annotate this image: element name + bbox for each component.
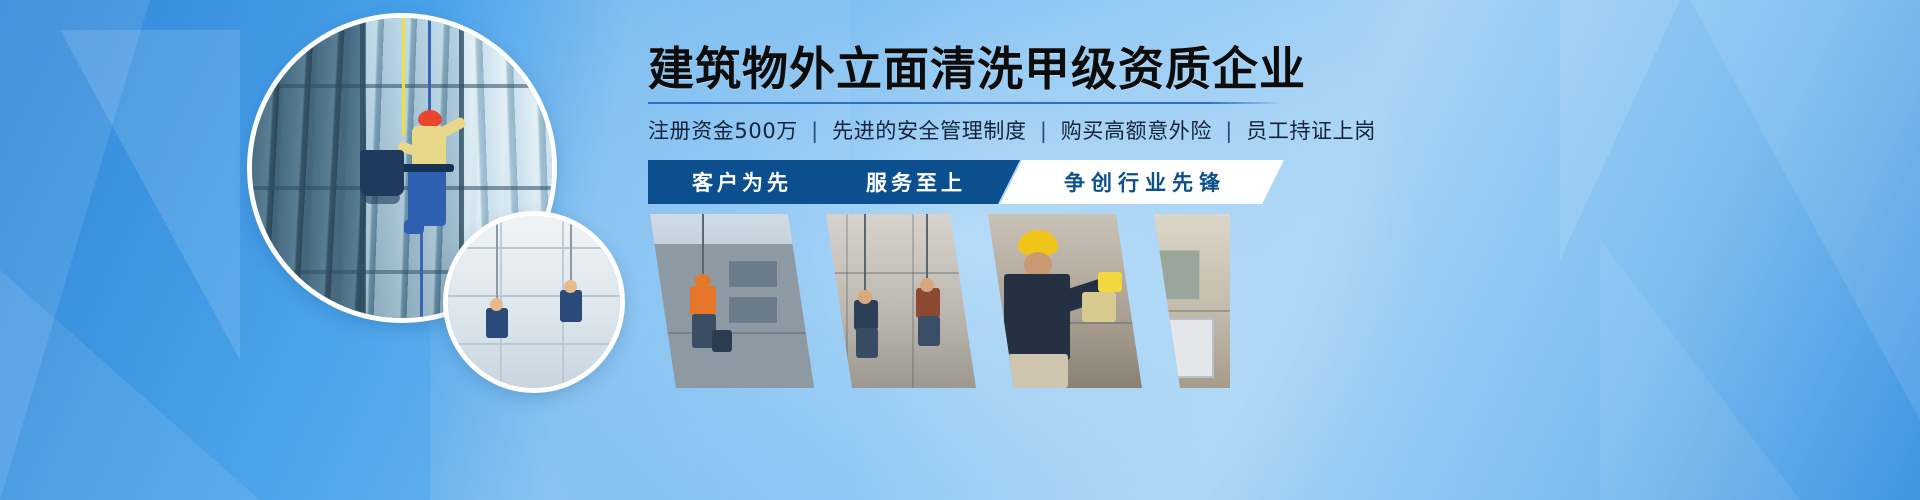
panel3-trowel bbox=[1082, 292, 1116, 322]
panel2-worker-a-body bbox=[854, 300, 878, 330]
photo-circle-small bbox=[448, 216, 620, 388]
worker-rope-right bbox=[570, 216, 572, 290]
panel2-wall bbox=[800, 214, 976, 388]
worker-right-body bbox=[560, 290, 582, 322]
panel1-window-2 bbox=[728, 296, 778, 324]
subtitle-separator-2: | bbox=[1034, 119, 1054, 143]
worker-left-body bbox=[486, 308, 508, 338]
decorative-triangle-bottom-right bbox=[1600, 240, 1800, 500]
worker-helmet-red bbox=[418, 110, 442, 127]
panel2-seam-h1 bbox=[800, 272, 976, 274]
decorative-triangle-left-inner bbox=[60, 30, 240, 360]
subtitle-separator-1: | bbox=[805, 119, 825, 143]
worker-rope-left bbox=[496, 216, 498, 308]
decorative-triangle-right bbox=[1690, 0, 1920, 420]
subtitle-part-2: 先进的安全管理制度 bbox=[832, 119, 1026, 143]
panel1-ledge bbox=[650, 332, 814, 334]
banner-root: 建筑物外立面清洗甲级资质企业 注册资金500万 | 先进的安全管理制度 | 购买… bbox=[0, 0, 1920, 500]
wall-seam-1 bbox=[448, 247, 620, 249]
panel4-floor-line bbox=[1128, 310, 1230, 312]
worker-legs bbox=[408, 168, 446, 226]
subtitle-part-4: 员工持证上岗 bbox=[1246, 119, 1376, 143]
light-facade-wall bbox=[448, 216, 620, 388]
photo-panel-1 bbox=[650, 214, 814, 388]
panel2-seam-v1 bbox=[846, 214, 848, 388]
subtitle: 注册资金500万 | 先进的安全管理制度 | 购买高额意外险 | 员工持证上岗 bbox=[648, 115, 1308, 145]
panel2-worker-a-legs bbox=[856, 328, 878, 358]
photo-strip bbox=[650, 214, 1230, 388]
light-facade-photo bbox=[448, 216, 620, 388]
page-title: 建筑物外立面清洗甲级资质企业 bbox=[648, 44, 1308, 96]
panel2-rope-right bbox=[926, 214, 928, 288]
panel3-worker-glove bbox=[1098, 272, 1122, 292]
panel3-worker-trousers bbox=[1008, 354, 1068, 388]
worker-left-head bbox=[490, 298, 503, 311]
wall-seam-2 bbox=[448, 295, 620, 297]
subtitle-separator-3: | bbox=[1219, 119, 1239, 143]
photo-panel-3 bbox=[962, 214, 1142, 388]
slogan-2: 服务至上 bbox=[866, 167, 966, 197]
panel2-rope-left bbox=[864, 214, 866, 300]
panel2-seam-v2 bbox=[912, 214, 914, 388]
decorative-triangle-bottom-left bbox=[0, 270, 260, 500]
photo-panel-2 bbox=[800, 214, 976, 388]
slogan-strip: 客户为先 服务至上 争创行业先锋 bbox=[648, 160, 1284, 204]
cleaning-bucket-shadow bbox=[364, 194, 400, 204]
safety-rope-yellow bbox=[402, 18, 405, 136]
photo-panel-4 bbox=[1128, 214, 1230, 388]
slogan-3: 争创行业先锋 bbox=[1058, 167, 1226, 197]
panel2-worker-b-body bbox=[916, 288, 940, 318]
panel3-worker-jacket bbox=[1004, 274, 1070, 360]
panel4-balcony bbox=[1146, 318, 1214, 378]
panel1-rope bbox=[702, 214, 704, 280]
decorative-triangle-left bbox=[0, 0, 150, 500]
worker-bosun-chair bbox=[402, 164, 454, 172]
wall-seam-3 bbox=[448, 343, 620, 345]
copy-block: 建筑物外立面清洗甲级资质企业 注册资金500万 | 先进的安全管理制度 | 购买… bbox=[648, 44, 1308, 145]
panel2-worker-b-head bbox=[920, 278, 934, 292]
cleaning-bucket bbox=[360, 150, 404, 196]
panel1-worker-helmet bbox=[694, 274, 711, 286]
subtitle-part-1: 注册资金500万 bbox=[648, 119, 798, 143]
panel2-worker-a-head bbox=[858, 290, 872, 304]
panel1-bucket bbox=[712, 330, 732, 352]
slogan-panel-dark: 客户为先 服务至上 bbox=[648, 160, 1020, 204]
worker-right-head bbox=[564, 280, 577, 293]
title-underline bbox=[648, 102, 1284, 104]
panel1-window-1 bbox=[728, 260, 778, 288]
slogan-panel-light: 争创行业先锋 bbox=[1000, 160, 1284, 204]
subtitle-part-3: 购买高额意外险 bbox=[1061, 119, 1212, 143]
slogan-1: 客户为先 bbox=[692, 167, 792, 197]
panel1-worker-vest bbox=[690, 286, 716, 316]
panel2-worker-b-legs bbox=[918, 316, 940, 346]
worker-boot bbox=[404, 220, 424, 234]
panel4-window bbox=[1154, 250, 1200, 300]
decorative-triangle-right-inner bbox=[1560, 0, 1680, 260]
